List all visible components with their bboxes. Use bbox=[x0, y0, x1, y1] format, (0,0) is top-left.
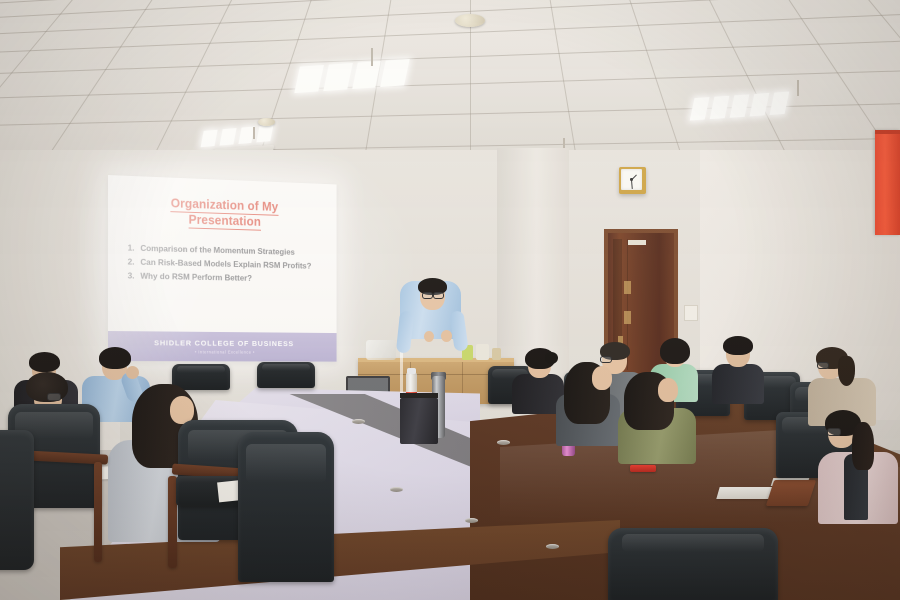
slide-bullet-list: 1. Comparison of the Momentum Strategies… bbox=[128, 242, 328, 288]
presenter-left-arm bbox=[396, 310, 414, 353]
ceiling-tile-line bbox=[0, 0, 81, 152]
red-smartphone[interactable] bbox=[630, 465, 656, 472]
cable-grommet bbox=[546, 544, 559, 549]
smoke-detector bbox=[455, 14, 485, 27]
light-panel bbox=[770, 92, 790, 115]
chair-back-foreground[interactable] bbox=[608, 528, 778, 600]
light-panel bbox=[710, 96, 730, 119]
slide-title: Organization of My Presentation bbox=[108, 193, 337, 232]
list-item: 2. Can Risk-Based Models Explain RSM Pro… bbox=[128, 256, 328, 273]
door-sign bbox=[628, 240, 646, 245]
presenter-trousers bbox=[400, 398, 438, 444]
wall-clock bbox=[619, 167, 646, 194]
cable-grommet bbox=[497, 440, 510, 445]
ceiling-tile-line bbox=[0, 12, 900, 55]
light-panel bbox=[750, 93, 770, 116]
chair-back[interactable] bbox=[238, 432, 334, 582]
fixture-stem bbox=[253, 127, 255, 139]
chair-leg bbox=[94, 462, 102, 562]
projection-screen: Organization of My Presentation 1. Compa… bbox=[108, 175, 337, 362]
paper-stack bbox=[716, 487, 773, 499]
list-item: 3. Why do RSM Perform Better? bbox=[128, 270, 328, 286]
attendee-pink-coat-glasses bbox=[818, 406, 900, 524]
presenter-left-hand bbox=[424, 331, 434, 342]
light-panel bbox=[219, 128, 236, 146]
list-item: 1. Comparison of the Momentum Strategies bbox=[128, 242, 328, 260]
cable-grommet bbox=[390, 487, 403, 492]
ceiling-tile-line bbox=[0, 0, 900, 37]
smoke-detector bbox=[258, 118, 275, 126]
presenter-right-hand bbox=[441, 330, 452, 342]
tablet-case[interactable] bbox=[766, 480, 816, 506]
ceiling-tile-line bbox=[0, 0, 900, 7]
light-panel bbox=[690, 97, 710, 120]
light-panel bbox=[730, 94, 750, 117]
ceiling-tile-line bbox=[0, 0, 900, 21]
light-panel bbox=[380, 59, 409, 87]
ceiling-tile-line bbox=[0, 0, 3, 139]
ceiling-tile-line bbox=[42, 0, 159, 165]
light-panel bbox=[257, 125, 274, 143]
small-carton bbox=[492, 348, 501, 360]
light-panel bbox=[352, 61, 381, 89]
cable-grommet bbox=[352, 419, 365, 424]
presenter-right-arm bbox=[449, 310, 468, 352]
light-switch[interactable] bbox=[684, 305, 698, 321]
fixture-stem bbox=[797, 80, 799, 96]
attendee-olive-jacket bbox=[618, 372, 702, 464]
white-container bbox=[476, 344, 489, 360]
red-wall-banner bbox=[875, 130, 900, 235]
light-panel bbox=[294, 65, 323, 93]
cable-grommet bbox=[465, 518, 478, 523]
ceiling-tile-line bbox=[0, 39, 900, 76]
presenter bbox=[400, 281, 466, 411]
chair-back[interactable] bbox=[257, 362, 315, 388]
fixture-stem bbox=[563, 138, 565, 148]
presenter-glasses bbox=[422, 292, 433, 299]
ceiling-light bbox=[292, 59, 412, 93]
presenter-glasses bbox=[433, 292, 444, 299]
light-panel bbox=[323, 63, 352, 91]
fixture-stem bbox=[371, 48, 373, 66]
chair-back[interactable] bbox=[0, 430, 34, 570]
conference-room-scene: Organization of My Presentation 1. Compa… bbox=[0, 0, 900, 600]
attendee-dark-shirt-back bbox=[712, 338, 768, 404]
clock-minute-hand bbox=[631, 180, 633, 189]
light-panel bbox=[201, 130, 218, 148]
plastic-bag bbox=[366, 340, 396, 360]
ceiling-light bbox=[688, 91, 793, 120]
ceiling-light bbox=[199, 125, 277, 148]
